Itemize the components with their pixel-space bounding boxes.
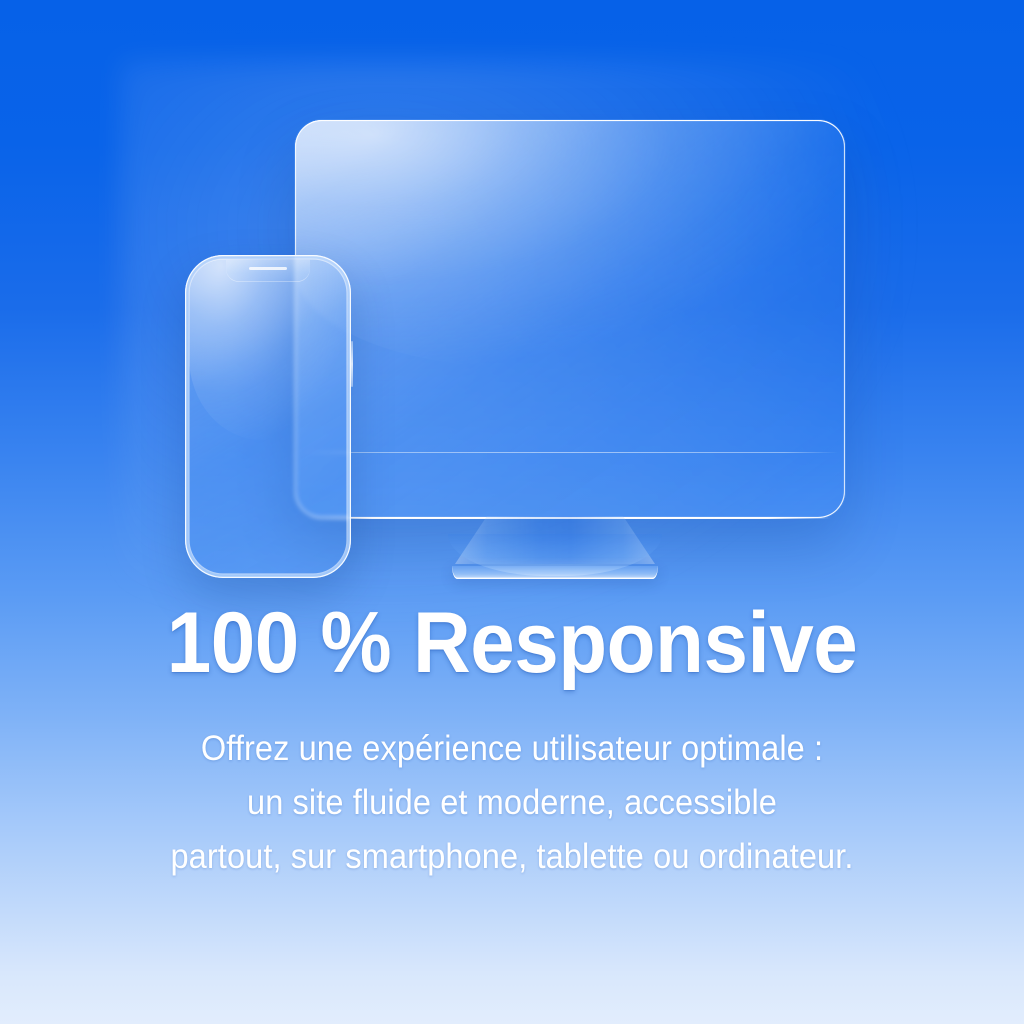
monitor-chin-line	[302, 452, 838, 453]
phone-screen	[185, 255, 351, 578]
phone-notch	[226, 260, 310, 282]
phone-side-button	[351, 341, 354, 387]
body-line-2: un site fluide et moderne, accessible	[36, 776, 988, 830]
body-copy: Offrez une expérience utilisateur optima…	[36, 722, 988, 884]
body-line-1: Offrez une expérience utilisateur optima…	[36, 722, 988, 776]
monitor-illustration	[295, 120, 845, 518]
copy-block: 100 % Responsive Offrez une expérience u…	[0, 600, 1024, 884]
phone-earpiece-icon	[249, 267, 287, 270]
monitor-stand-base	[452, 566, 658, 579]
monitor-screen	[295, 120, 845, 518]
body-line-3: partout, sur smartphone, tablette ou ord…	[36, 830, 988, 884]
phone-sheen	[189, 259, 347, 440]
monitor-sheen	[295, 120, 845, 367]
phone-illustration	[185, 255, 351, 578]
headline: 100 % Responsive	[36, 600, 988, 686]
promo-card: 100 % Responsive Offrez une expérience u…	[0, 0, 1024, 1024]
